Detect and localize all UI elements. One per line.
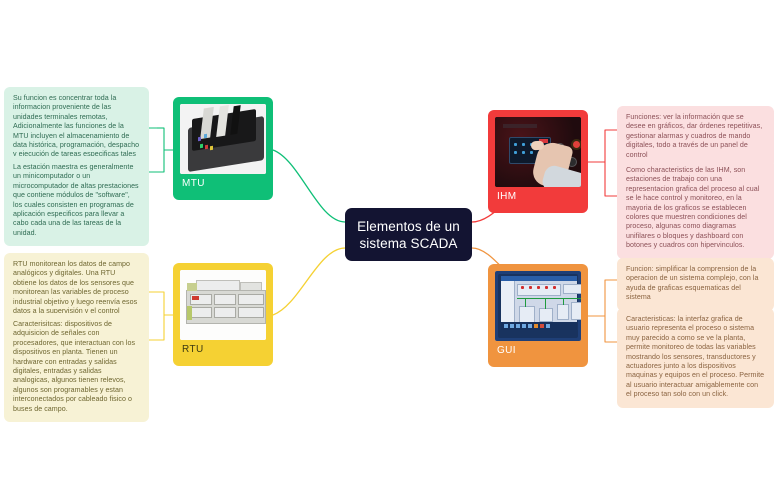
- ihm-caption: IHM: [488, 187, 588, 207]
- note-ihm-2: Como characteristics de las IHM, son est…: [617, 159, 774, 259]
- center-node[interactable]: Elementos de un sistema SCADA: [345, 208, 472, 261]
- branch-card-rtu[interactable]: RTU: [173, 263, 273, 366]
- mindmap-canvas: Elementos de un sistema SCADA MTU: [0, 0, 780, 483]
- rtu-module-photo: [180, 270, 266, 340]
- hmi-touch-panel-photo: [495, 117, 581, 187]
- note-rtu-2: Caracterisitcas: dispositivos de adquisi…: [4, 313, 149, 422]
- gui-caption: GUI: [488, 341, 588, 361]
- note-gui-2: Caracteristicas: la interfaz grafica de …: [617, 308, 774, 408]
- ihm-thumbnail: [495, 117, 581, 187]
- mtu-caption: MTU: [173, 174, 273, 194]
- gui-thumbnail: [495, 271, 581, 341]
- center-node-line2: sistema SCADA: [359, 235, 457, 252]
- mtu-thumbnail: [180, 104, 266, 174]
- note-gui-1: Funcion: simplificar la comprension de l…: [617, 258, 774, 311]
- branch-card-mtu[interactable]: MTU: [173, 97, 273, 200]
- note-mtu-2: La estación maestra es generalmente un m…: [4, 156, 149, 246]
- branch-card-ihm[interactable]: IHM: [488, 110, 588, 213]
- center-node-line1: Elementos de un: [357, 218, 460, 235]
- rtu-thumbnail: [180, 270, 266, 340]
- scada-gui-screen-photo: [495, 271, 581, 341]
- branch-card-gui[interactable]: GUI: [488, 264, 588, 367]
- rtu-caption: RTU: [173, 340, 273, 360]
- mtu-controller-photo: [180, 104, 266, 174]
